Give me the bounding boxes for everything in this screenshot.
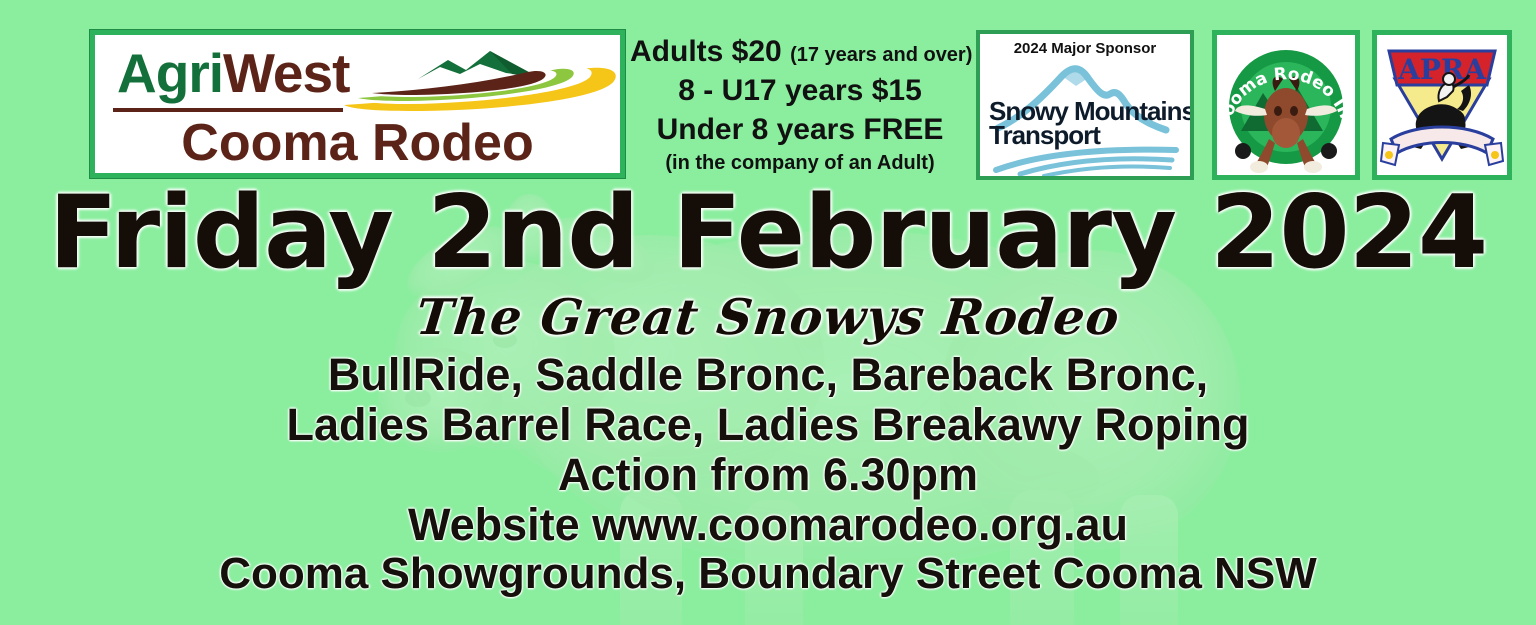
price-under8: Under 8 years FREE bbox=[630, 115, 970, 145]
agriwest-word-west: West bbox=[223, 42, 349, 104]
event-details-block: BullRide, Saddle Bronc, Bareback Bronc, … bbox=[0, 352, 1536, 596]
event-tagline: The Great Snowys Rodeo bbox=[0, 288, 1536, 346]
cooma-rodeo-inc-bull-roundel-icon: Cooma Rodeo Inc bbox=[1217, 35, 1355, 175]
sponsor-name-line2: Transport bbox=[989, 120, 1100, 151]
major-sponsor-label: 2024 Major Sponsor bbox=[980, 40, 1190, 57]
detail-start-time: Action from 6.30pm bbox=[0, 452, 1536, 497]
detail-venue-address: Cooma Showgrounds, Boundary Street Cooma… bbox=[0, 552, 1536, 596]
apra-bronc-rider-icon: APRA bbox=[1377, 35, 1507, 175]
detail-events-line2: Ladies Barrel Race, Ladies Breakawy Ropi… bbox=[0, 402, 1536, 447]
agriwest-cooma-rodeo-logo: AgriWest Cooma Rodeo bbox=[90, 30, 625, 178]
agriwest-underline bbox=[113, 108, 343, 112]
rodeo-event-banner: AgriWest Cooma Rodeo bbox=[0, 0, 1536, 625]
agriwest-subtitle: Cooma Rodeo bbox=[95, 113, 620, 173]
agriwest-wordmark: AgriWest bbox=[117, 41, 349, 105]
apra-wordmark-text: APRA bbox=[1397, 53, 1487, 86]
price-under8-note: (in the company of an Adult) bbox=[630, 153, 970, 173]
cooma-rodeo-inc-logo: Cooma Rodeo Inc bbox=[1212, 30, 1360, 180]
price-adults-main: Adults $20 bbox=[630, 35, 782, 68]
agriwest-landscape-swoosh-icon bbox=[340, 43, 620, 115]
price-adults-note: (17 years and over) bbox=[790, 44, 972, 66]
apra-logo: APRA bbox=[1372, 30, 1512, 180]
agriwest-word-agri: Agri bbox=[117, 42, 223, 104]
event-date-headline: Friday 2nd February 2024 bbox=[0, 182, 1536, 283]
detail-events-line1: BullRide, Saddle Bronc, Bareback Bronc, bbox=[0, 352, 1536, 397]
detail-website[interactable]: Website www.coomarodeo.org.au bbox=[0, 502, 1536, 547]
price-youth: 8 - U17 years $15 bbox=[630, 76, 970, 106]
major-sponsor-snowy-mountains-transport: 2024 Major Sponsor Snowy Mountains Trans… bbox=[976, 30, 1194, 180]
admission-pricing-block: Adults $20 (17 years and over) 8 - U17 y… bbox=[630, 30, 970, 173]
price-adults: Adults $20 (17 years and over) bbox=[630, 37, 970, 67]
